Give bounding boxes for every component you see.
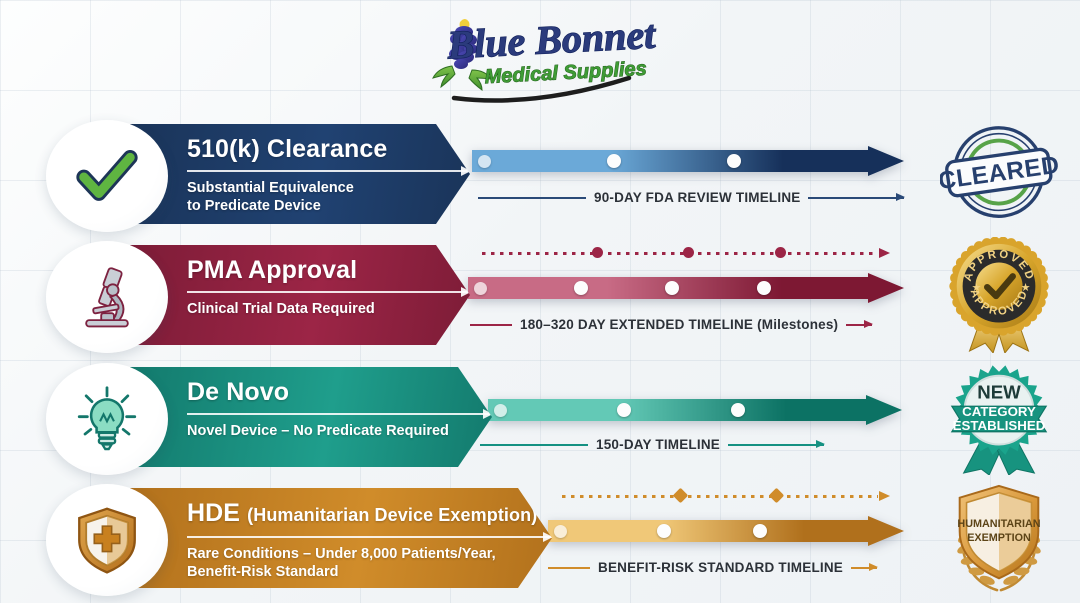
dotted-arrow-tip: [879, 491, 890, 501]
pathway-icon-hde: [46, 484, 168, 596]
pathway-subtitle-line: Benefit-Risk Standard: [187, 564, 552, 582]
pathway-title-510k: 510(k) Clearance: [187, 135, 470, 163]
pathway-title-paren: (Humanitarian Device Exemption): [247, 505, 537, 525]
timeline-milestone-dot: [757, 281, 771, 295]
pathway-row-denovo[interactable]: De NovoNovel Device – No Predicate Requi…: [0, 357, 1080, 477]
arrow-body: [472, 146, 904, 176]
milestone-marker: [673, 488, 689, 504]
timeline-denovo: [488, 357, 902, 477]
timeline-arrow-510k: [472, 146, 904, 176]
pathway-banner-hde[interactable]: HDE (Humanitarian Device Exemption)Rare …: [130, 488, 552, 588]
timeline-start-dot: [478, 155, 491, 168]
dotted-arrow-tip: [879, 248, 890, 258]
lightbulb-icon: [70, 382, 144, 456]
check-mark-icon: [70, 139, 144, 213]
timeline-arrow-pma: [468, 273, 904, 303]
svg-text:EXEMPTION: EXEMPTION: [967, 532, 1031, 544]
dotted-track: [562, 495, 878, 498]
svg-text:NEW: NEW: [977, 381, 1021, 402]
svg-text:CATEGORY: CATEGORY: [962, 404, 1036, 419]
pathway-banner-510k[interactable]: 510(k) ClearanceSubstantial Equivalencet…: [130, 124, 470, 224]
outcome-badge-510k: CLEARED: [940, 116, 1058, 232]
outcome-badge-pma: APPROVED APPROVED ★ ★: [940, 237, 1058, 353]
milestone-marker: [768, 488, 784, 504]
shield-cross-icon: [70, 503, 144, 577]
pathway-icon-pma: [46, 241, 168, 353]
milestone-marker: [775, 247, 786, 258]
pathway-title-pma: PMA Approval: [187, 256, 470, 284]
svg-text:★: ★: [971, 282, 981, 294]
pathway-banner-pma[interactable]: PMA ApprovalClinical Trial Data Required: [130, 245, 470, 345]
timeline-milestone-dot: [665, 281, 679, 295]
infographic-canvas: Blue Bonnet Medical Supplies 510(k) Clea…: [0, 0, 1080, 603]
pathway-title-main: De Novo: [187, 378, 289, 406]
timeline-arrow-denovo: [488, 395, 902, 425]
pathway-title-main: PMA Approval: [187, 256, 357, 284]
banner-arrow-rule: [187, 170, 470, 172]
pathway-title-denovo: De Novo: [187, 378, 492, 406]
timeline-milestone-dot: [574, 281, 588, 295]
svg-text:★: ★: [1021, 282, 1031, 294]
timeline-hde: [548, 478, 904, 598]
timeline-start-dot: [474, 282, 487, 295]
timeline-milestone-dot: [617, 403, 631, 417]
pathway-title-main: 510(k) Clearance: [187, 135, 387, 163]
timeline-milestone-dot: [607, 154, 621, 168]
milestone-dotted-line: [562, 491, 890, 501]
pathway-banner-denovo[interactable]: De NovoNovel Device – No Predicate Requi…: [130, 367, 492, 467]
timeline-510k: [472, 114, 904, 234]
pathway-row-pma[interactable]: PMA ApprovalClinical Trial Data Required…: [0, 235, 1080, 355]
timeline-pma: [468, 235, 904, 355]
pathway-row-hde[interactable]: HDE (Humanitarian Device Exemption)Rare …: [0, 478, 1080, 598]
milestone-marker: [683, 247, 694, 258]
banner-arrow-rule: [187, 291, 470, 293]
timeline-start-dot: [494, 404, 507, 417]
timeline-start-dot: [554, 525, 567, 538]
pathway-subtitle-line: Clinical Trial Data Required: [187, 301, 470, 319]
milestone-dotted-line: [482, 248, 890, 258]
banner-arrow-rule: [187, 536, 552, 538]
outcome-badge-hde: HUMANITARIAN EXEMPTION: [940, 480, 1058, 596]
microscope-icon: [70, 260, 144, 334]
arrow-body: [548, 516, 904, 546]
dotted-track: [482, 252, 878, 255]
arrow-body: [488, 395, 902, 425]
pathway-title-main: HDE: [187, 499, 240, 527]
arrow-body: [468, 273, 904, 303]
pathway-row-510k[interactable]: 510(k) ClearanceSubstantial Equivalencet…: [0, 114, 1080, 234]
timeline-arrow-hde: [548, 516, 904, 546]
milestone-marker: [592, 247, 603, 258]
outcome-badge-denovo: NEW CATEGORY ESTABLISHED: [940, 359, 1058, 475]
pathway-icon-510k: [46, 120, 168, 232]
pathway-subtitle-line: Rare Conditions – Under 8,000 Patients/Y…: [187, 546, 552, 564]
pathway-subtitle-line: Substantial Equivalence: [187, 180, 470, 198]
timeline-milestone-dot: [753, 524, 767, 538]
brand-logo: Blue Bonnet Medical Supplies: [424, 8, 674, 104]
pathway-subtitle-line: Novel Device – No Predicate Required: [187, 423, 492, 441]
banner-arrow-rule: [187, 413, 492, 415]
pathway-title-hde: HDE (Humanitarian Device Exemption): [187, 499, 552, 529]
svg-text:HUMANITARIAN: HUMANITARIAN: [957, 518, 1040, 530]
pathway-icon-denovo: [46, 363, 168, 475]
svg-text:ESTABLISHED: ESTABLISHED: [953, 418, 1046, 433]
pathway-subtitle-line: to Predicate Device: [187, 198, 470, 216]
